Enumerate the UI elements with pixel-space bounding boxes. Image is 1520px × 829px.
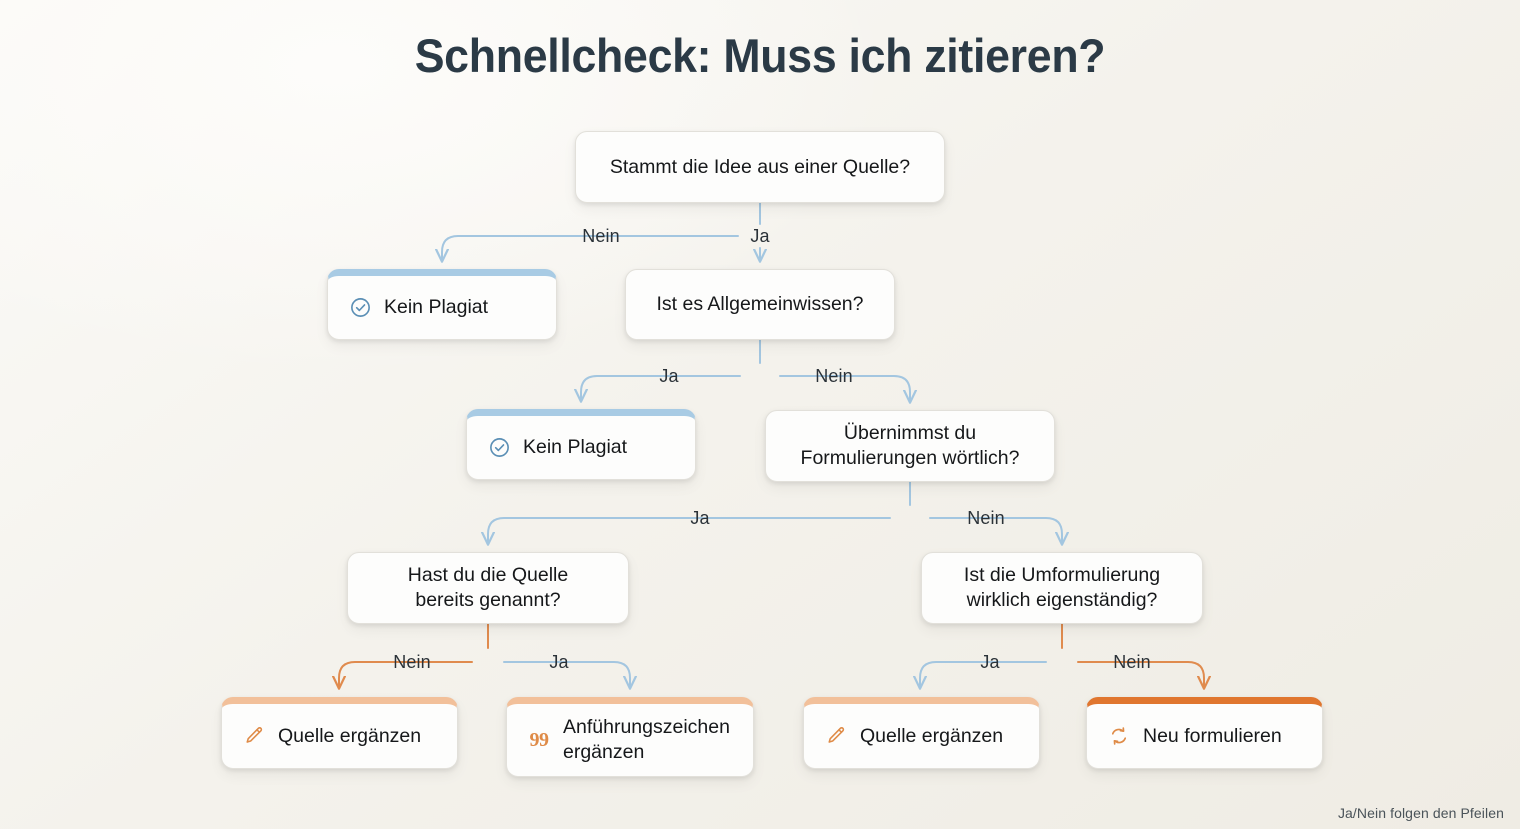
- footer-note: Ja/Nein folgen den Pfeilen: [1338, 805, 1504, 821]
- node-outcome-add-source-2[interactable]: Quelle ergänzen: [803, 697, 1040, 769]
- edge-label-named-nein: Nein: [393, 653, 430, 671]
- node-question-rephrase-original[interactable]: Ist die Umformulierung wirklich eigenstä…: [921, 552, 1203, 624]
- node-label: Anführungszeichen ergänzen: [563, 715, 733, 765]
- node-question-source[interactable]: Stammt die Idee aus einer Quelle?: [575, 131, 945, 203]
- edge-label-root-nein: Nein: [582, 227, 619, 245]
- pencil-icon: [242, 724, 266, 748]
- node-outcome-rewrite[interactable]: Neu formulieren: [1086, 697, 1323, 769]
- node-question-source-named[interactable]: Hast du die Quelle bereits genannt?: [347, 552, 629, 624]
- refresh-icon: [1107, 724, 1131, 748]
- node-label: Quelle ergänzen: [278, 724, 437, 749]
- page-title: Schnellcheck: Muss ich zitieren?: [38, 28, 1482, 83]
- node-label: Neu formulieren: [1143, 724, 1302, 749]
- check-circle-icon: [487, 436, 511, 460]
- flowchart-canvas: Schnellcheck: Muss ich zitieren?: [0, 0, 1520, 829]
- node-label: Kein Plagiat: [384, 295, 536, 320]
- edge-label-rephrase-ja: Ja: [980, 653, 999, 671]
- edge-label-verbatim-nein: Nein: [967, 509, 1004, 527]
- node-label: Hast du die Quelle bereits genannt?: [390, 563, 586, 613]
- edge-label-named-ja: Ja: [549, 653, 568, 671]
- node-outcome-no-plagiarism-1[interactable]: Kein Plagiat: [327, 269, 557, 340]
- node-outcome-add-source-1[interactable]: Quelle ergänzen: [221, 697, 458, 769]
- edge-label-rephrase-nein: Nein: [1113, 653, 1150, 671]
- check-circle-icon: [348, 296, 372, 320]
- node-label: Übernimmst du Formulierungen wörtlich?: [783, 421, 1038, 471]
- node-outcome-no-plagiarism-2[interactable]: Kein Plagiat: [466, 409, 696, 480]
- edge-label-root-ja: Ja: [750, 227, 769, 245]
- node-question-common-knowledge[interactable]: Ist es Allgemeinwissen?: [625, 269, 895, 340]
- node-label: Stammt die Idee aus einer Quelle?: [592, 155, 928, 180]
- edge-label-common-ja: Ja: [659, 367, 678, 385]
- edge-label-common-nein: Nein: [815, 367, 852, 385]
- edge-verbatim-ja: [488, 518, 890, 544]
- node-label: Ist es Allgemeinwissen?: [638, 292, 881, 317]
- node-question-verbatim[interactable]: Übernimmst du Formulierungen wörtlich?: [765, 410, 1055, 482]
- edge-label-verbatim-ja: Ja: [690, 509, 709, 527]
- pencil-icon: [824, 724, 848, 748]
- node-label: Kein Plagiat: [523, 435, 675, 460]
- quote-99-icon: 99: [527, 728, 551, 752]
- node-label: Quelle ergänzen: [860, 724, 1019, 749]
- node-label: Ist die Umformulierung wirklich eigenstä…: [946, 563, 1178, 613]
- node-outcome-add-quotation-marks[interactable]: 99 Anführungszeichen ergänzen: [506, 697, 754, 777]
